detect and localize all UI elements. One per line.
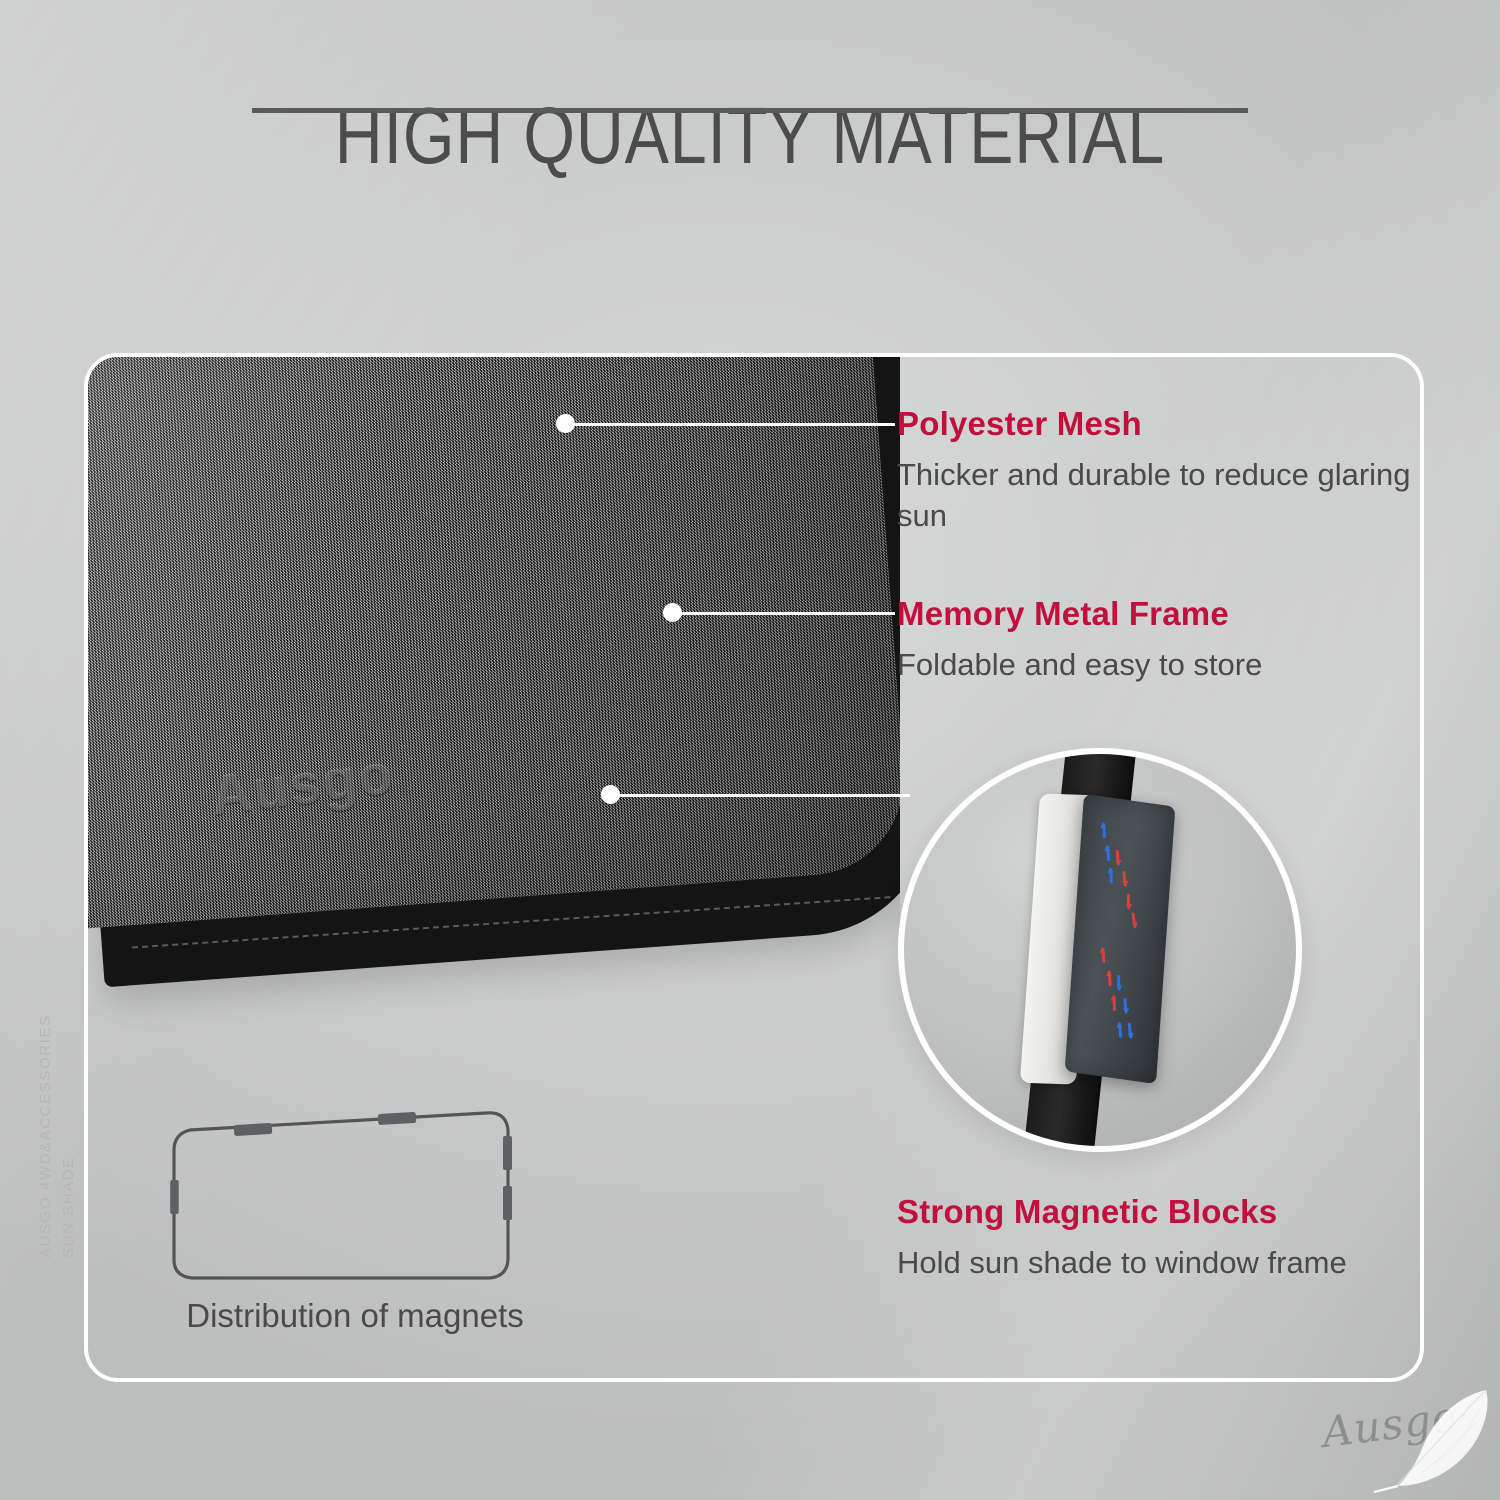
title-underline-rule xyxy=(252,108,1248,113)
connector-line-1 xyxy=(565,423,895,426)
callout-body: Foldable and easy to store xyxy=(897,645,1417,686)
callout-body: Thicker and durable to reduce glaring su… xyxy=(897,455,1417,537)
magnet-block-right-lower xyxy=(503,1186,512,1220)
magnet-block-top-left xyxy=(234,1123,273,1136)
connector-dot-1 xyxy=(556,414,575,433)
sun-shade-body: Ausgo xyxy=(88,357,900,987)
callout-memory-metal-frame: Memory Metal Frame Foldable and easy to … xyxy=(897,595,1417,686)
magnet-strip xyxy=(1065,794,1176,1084)
magnetic-block-detail-circle xyxy=(898,748,1302,1152)
side-brand-line-2: SUN SHADE xyxy=(57,1014,80,1258)
connector-line-3 xyxy=(610,794,910,797)
mesh-sheen-overlay xyxy=(88,357,900,930)
product-photo: Ausgo xyxy=(88,357,900,1057)
connector-dot-3 xyxy=(601,785,620,804)
magnet-diagram-caption: Distribution of magnets xyxy=(120,1297,590,1335)
magnet-block-top-right xyxy=(378,1112,417,1125)
magnet-block-right-upper xyxy=(503,1136,512,1170)
callout-heading: Polyester Mesh xyxy=(897,405,1417,443)
feather-icon xyxy=(1368,1386,1500,1500)
callout-body: Hold sun shade to window frame xyxy=(897,1243,1417,1284)
magnet-block-left xyxy=(170,1180,179,1214)
connector-dot-2 xyxy=(663,603,682,622)
callout-heading: Strong Magnetic Blocks xyxy=(897,1193,1417,1231)
callout-polyester-mesh: Polyester Mesh Thicker and durable to re… xyxy=(897,405,1417,537)
callout-strong-magnetic-blocks: Strong Magnetic Blocks Hold sun shade to… xyxy=(897,1193,1417,1284)
callout-heading: Memory Metal Frame xyxy=(897,595,1417,633)
window-outline xyxy=(174,1113,508,1278)
magnetic-field-arrows xyxy=(1065,794,1176,1084)
magnet-diagram-svg xyxy=(168,1108,528,1298)
magnet-distribution-diagram xyxy=(168,1108,528,1298)
side-brand-strip: AUSGO 4WD&ACCESSORIES SUN SHADE xyxy=(34,1014,81,1258)
polyester-mesh-texture: Ausgo xyxy=(88,357,900,930)
side-brand-line-1: AUSGO 4WD&ACCESSORIES xyxy=(34,1014,57,1258)
connector-line-2 xyxy=(672,612,895,615)
infographic-canvas: HIGH QUALITY MATERIAL Ausgo xyxy=(0,0,1500,1500)
